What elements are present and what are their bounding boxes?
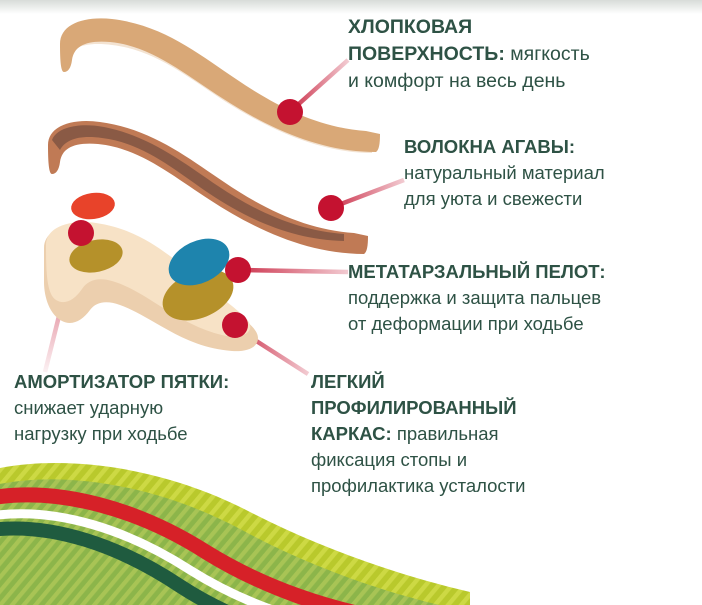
callout-title-line: КАРКАС: [311, 423, 392, 444]
callout-body-line: и комфорт на весь день [348, 68, 590, 95]
callout-title-line: АМОРТИЗАТОР ПЯТКИ: [14, 371, 229, 392]
infographic-canvas: ХЛОПКОВАЯ ПОВЕРХНОСТЬ: мягкость и комфор… [0, 0, 702, 605]
callout-cotton-surface: ХЛОПКОВАЯ ПОВЕРХНОСТЬ: мягкость и комфор… [348, 14, 590, 95]
callout-body-line: поддержка и защита пальцев [348, 285, 606, 311]
callout-title-line: МЕТАТАРЗАЛЬНЫЙ ПЕЛОТ: [348, 261, 606, 282]
callout-body-line: снижает ударную [14, 395, 229, 421]
heel-pad-red [69, 190, 116, 222]
callout-title-line: ПОВЕРХНОСТЬ: [348, 43, 505, 65]
callout-title-line: ХЛОПКОВАЯ [348, 16, 472, 38]
callout-body-line: от деформации при ходьбе [348, 311, 606, 337]
callout-dot-metatarsal[interactable] [225, 257, 251, 283]
callout-metatarsal-pad: МЕТАТАРЗАЛЬНЫЙ ПЕЛОТ: поддержка и защита… [348, 259, 606, 337]
callout-body-line: для уюта и свежести [404, 186, 605, 212]
callout-light-profiled-frame: ЛЕГКИЙ ПРОФИЛИРОВАННЫЙ КАРКАС: правильна… [311, 369, 525, 499]
callout-body-inline: правильная [392, 423, 499, 444]
callout-body-line: фиксация стопы и [311, 447, 525, 473]
callout-title-line: ЛЕГКИЙ [311, 371, 385, 392]
callout-body-line: нагрузку при ходьбе [14, 421, 229, 447]
callout-agave-fibers: ВОЛОКНА АГАВЫ: натуральный материал для … [404, 134, 605, 212]
callout-dot-cotton[interactable] [277, 99, 303, 125]
leader-line-cotton [292, 60, 348, 110]
callout-title-line: ВОЛОКНА АГАВЫ: [404, 136, 575, 157]
leader-line-metatarsal [240, 270, 348, 272]
callout-body-line: профилактика усталости [311, 473, 525, 499]
callout-body-inline: мягкость [505, 43, 590, 65]
callout-dot-heel[interactable] [68, 220, 94, 246]
callout-dot-agave[interactable] [318, 195, 344, 221]
callout-heel-shock-absorber: АМОРТИЗАТОР ПЯТКИ: снижает ударную нагру… [14, 369, 229, 447]
callout-body-line: натуральный материал [404, 160, 605, 186]
leader-line-agave [333, 180, 404, 207]
callout-dot-frame[interactable] [222, 312, 248, 338]
callout-title-line: ПРОФИЛИРОВАННЫЙ [311, 397, 517, 418]
